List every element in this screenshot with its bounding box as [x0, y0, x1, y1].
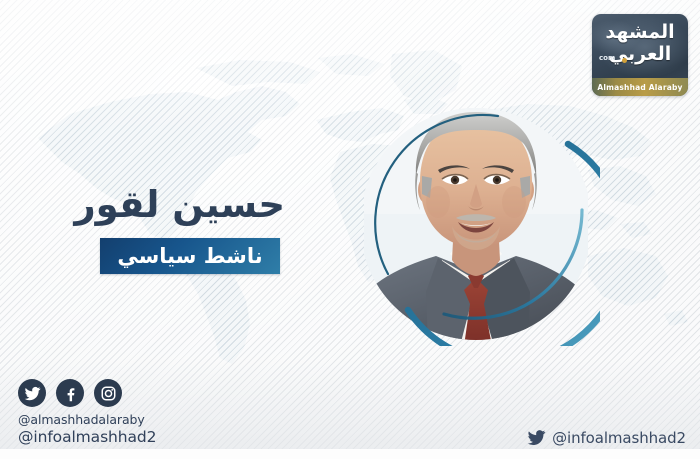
guest-graphic-card: المشهد العربي com Almashhad Alaraby [0, 0, 700, 459]
logo-latin-bar: Almashhad Alaraby [592, 78, 688, 96]
guest-role-badge: ناشط سياسي [100, 238, 280, 274]
social-handle-secondary[interactable]: @infoalmashhad2 [18, 428, 156, 447]
guest-role-label: ناشط سياسي [117, 246, 262, 267]
logo-com-label: com [599, 54, 615, 62]
social-icon-row [18, 379, 156, 407]
facebook-icon[interactable] [56, 379, 84, 407]
bottom-crop-strip [0, 449, 700, 459]
instagram-icon[interactable] [94, 379, 122, 407]
watermark-handle-text: @infoalmashhad2 [552, 429, 686, 447]
guest-name: حسين لقور [75, 186, 285, 223]
logo-latin-name: Almashhad Alaraby [597, 83, 682, 92]
portrait-container [352, 98, 600, 346]
watermark-handle: @infoalmashhad2 [527, 428, 686, 447]
social-block: @almashhadalaraby @infoalmashhad2 [18, 379, 156, 447]
social-handle-primary[interactable]: @almashhadalaraby [18, 412, 156, 428]
twitter-icon[interactable] [18, 379, 46, 407]
logo-arabic-line-1: المشهد [592, 22, 688, 43]
logo-dot-icon [622, 58, 627, 63]
portrait-ring [352, 98, 600, 346]
twitter-icon [527, 428, 546, 447]
channel-logo: المشهد العربي com Almashhad Alaraby [592, 14, 688, 96]
